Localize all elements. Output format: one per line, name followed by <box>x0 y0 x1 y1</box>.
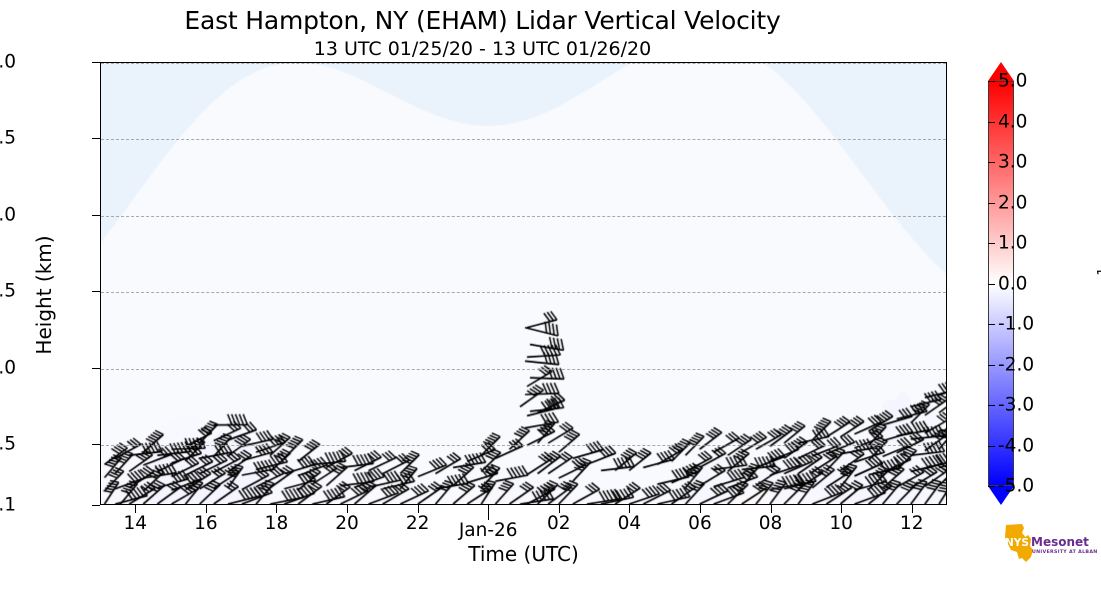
colorbar-tick-label-1.0: 1.0 <box>998 233 1027 254</box>
logo-nys-text: NYS <box>1005 537 1029 549</box>
y-tick-label-1.5: 1.5 <box>0 281 16 302</box>
gridline-y-3.0 <box>101 63 946 64</box>
colorbar-tick-mark--4.0 <box>988 446 995 447</box>
y-tick-label-3.0: 3.0 <box>0 52 16 73</box>
x-tick-mark-12 <box>912 505 913 513</box>
y-tick-mark-3.0 <box>92 62 100 63</box>
gridline-y-1.5 <box>101 292 946 293</box>
x-tick-label-04: 04 <box>618 513 642 534</box>
colorbar-tick-label-4.0: 4.0 <box>998 111 1027 132</box>
logo-university-text: UNIVERSITY AT ALBANY <box>1032 549 1097 555</box>
x-tick-label-Jan-26: Jan-26 <box>459 520 518 541</box>
colorbar-tick-label-0.0: 0.0 <box>998 273 1027 294</box>
x-tick-label-16: 16 <box>194 513 218 534</box>
figure-title: East Hampton, NY (EHAM) Lidar Vertical V… <box>0 6 965 35</box>
nys-mesonet-logo: NYS Mesonet UNIVERSITY AT ALBANY <box>1002 522 1097 566</box>
y-tick-mark-0.5 <box>92 444 100 445</box>
colorbar-tick-label--2.0: -2.0 <box>998 354 1034 375</box>
colorbar-tick-mark-3.0 <box>988 162 995 163</box>
x-tick-label-20: 20 <box>335 513 359 534</box>
y-tick-mark-0.1 <box>92 505 100 506</box>
colorbar-tick-label-5.0: 5.0 <box>998 71 1027 92</box>
colorbar-tick-mark--1.0 <box>988 324 995 325</box>
vertical-velocity-heatmap-canvas <box>101 63 946 504</box>
colorbar-tick-mark--2.0 <box>988 365 995 366</box>
gridline-y-1.0 <box>101 369 946 370</box>
y-tick-mark-2.5 <box>92 138 100 139</box>
logo-mesonet-text: Mesonet <box>1031 535 1089 549</box>
x-tick-label-22: 22 <box>406 513 430 534</box>
y-tick-mark-1.5 <box>92 291 100 292</box>
colorbar-tick-label-2.0: 2.0 <box>998 192 1027 213</box>
colorbar-tick-mark-5.0 <box>988 81 995 82</box>
colorbar-tick-label--5.0: -5.0 <box>998 476 1034 497</box>
x-tick-mark-08 <box>771 505 772 513</box>
x-tick-mark-14 <box>135 505 136 513</box>
y-tick-label-2.5: 2.5 <box>0 128 16 149</box>
x-tick-label-18: 18 <box>265 513 289 534</box>
x-tick-mark-06 <box>700 505 701 513</box>
x-tick-mark-20 <box>347 505 348 513</box>
y-tick-mark-2.0 <box>92 215 100 216</box>
colorbar-tick-label--3.0: -3.0 <box>998 395 1034 416</box>
colorbar-tick-mark--5.0 <box>988 486 995 487</box>
x-axis-label: Time (UTC) <box>100 542 947 566</box>
x-tick-label-02: 02 <box>547 513 571 534</box>
y-axis-label: Height (km) <box>32 195 56 395</box>
x-tick-mark-Jan-26 <box>488 505 489 520</box>
colorbar-tick-label-3.0: 3.0 <box>998 152 1027 173</box>
gridline-y-2.5 <box>101 139 946 140</box>
x-tick-label-08: 08 <box>759 513 783 534</box>
x-tick-mark-22 <box>418 505 419 513</box>
figure-subtitle: 13 UTC 01/25/20 - 13 UTC 01/26/20 <box>0 38 965 60</box>
colorbar-tick-mark-4.0 <box>988 122 995 123</box>
x-tick-mark-16 <box>206 505 207 513</box>
colorbar-tick-label--1.0: -1.0 <box>998 314 1034 335</box>
gridline-y-0.5 <box>101 445 946 446</box>
y-tick-label-2.0: 2.0 <box>0 204 16 225</box>
x-tick-label-12: 12 <box>900 513 924 534</box>
colorbar-tick-mark--3.0 <box>988 405 995 406</box>
y-tick-mark-1.0 <box>92 368 100 369</box>
x-tick-label-10: 10 <box>829 513 853 534</box>
colorbar-tick-label--4.0: -4.0 <box>998 435 1034 456</box>
x-tick-mark-18 <box>276 505 277 513</box>
gridline-y-2.0 <box>101 216 946 217</box>
plot-area[interactable] <box>100 62 947 505</box>
colorbar-tick-mark-2.0 <box>988 203 995 204</box>
colorbar-unit-label: m s−1 <box>1096 236 1101 356</box>
x-tick-mark-02 <box>559 505 560 513</box>
y-tick-label-0.1: 0.1 <box>0 495 16 516</box>
colorbar-tick-mark-0.0 <box>988 284 995 285</box>
y-tick-label-0.5: 0.5 <box>0 433 16 454</box>
colorbar-tick-mark-1.0 <box>988 243 995 244</box>
x-tick-mark-04 <box>629 505 630 513</box>
x-tick-label-06: 06 <box>688 513 712 534</box>
y-tick-label-1.0: 1.0 <box>0 357 16 378</box>
x-tick-mark-10 <box>841 505 842 513</box>
x-tick-label-14: 14 <box>124 513 148 534</box>
